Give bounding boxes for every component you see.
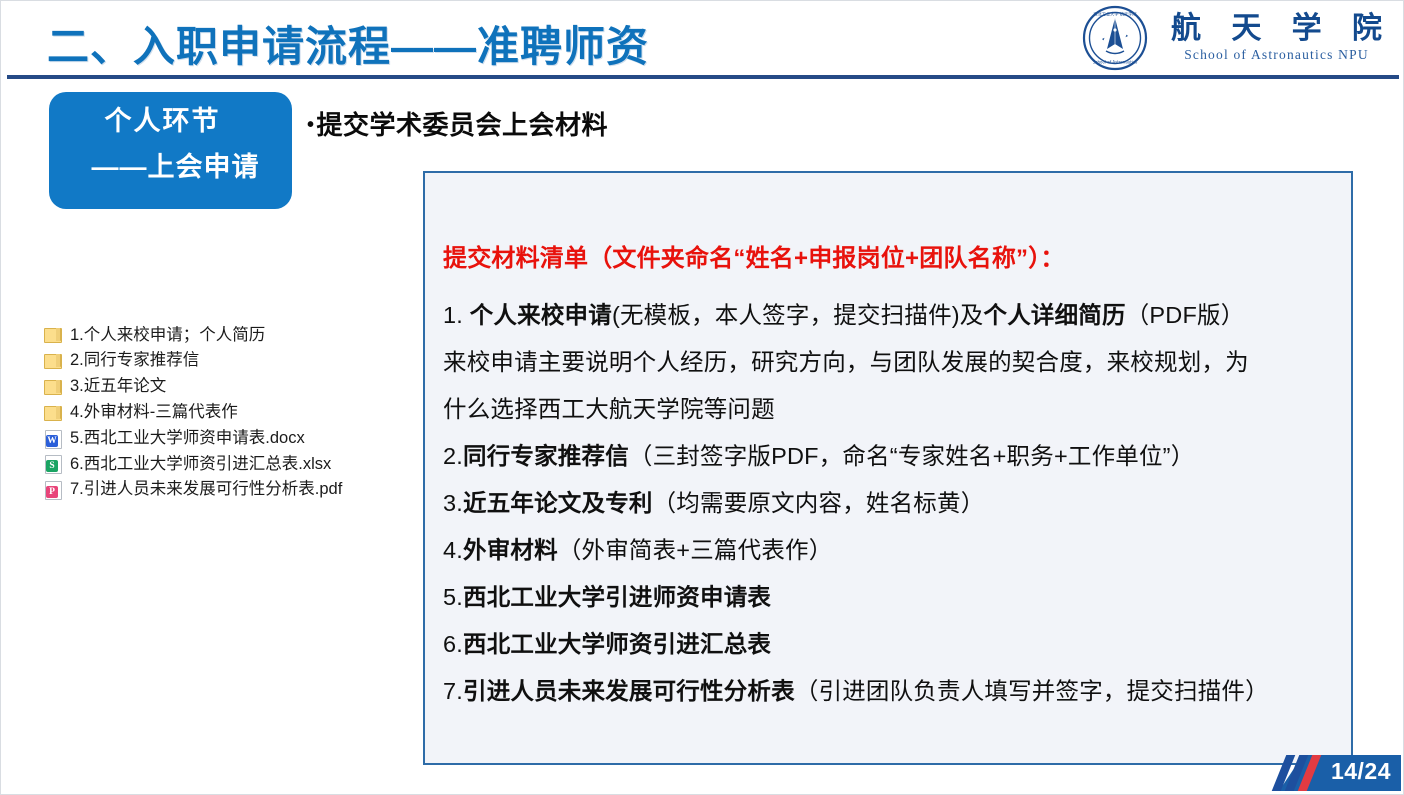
checklist-line: 6.西北工业大学师资引进汇总表 [443,621,1337,668]
checklist-lines: 1. 个人来校申请(无模板，本人签字，提交扫描件)及个人详细简历（PDF版）来校… [443,292,1337,715]
logo-chinese-name: 航 天 学 院 [1160,13,1393,45]
checklist-emphasis: 个人来校申请 [470,302,612,328]
stage-badge: 个人环节 ——上会申请 [49,92,292,209]
checklist-text: 5. [443,584,463,610]
folder-icon [43,403,62,422]
attachment-file-list: 1.个人来校申请；个人简历2.同行专家推荐信3.近五年论文4.外审材料-三篇代表… [43,322,395,503]
list-item[interactable]: 2.同行专家推荐信 [43,348,395,374]
svg-text:西北工业大学 航天学院: 西北工业大学 航天学院 [1093,10,1137,17]
checklist-emphasis: 西北工业大学师资引进汇总表 [463,631,771,657]
checklist-text: （PDF版） [1126,302,1245,328]
section-bullet-text: 提交学术委员会上会材料 [317,110,609,140]
logo-english-name: School of Astronautics NPU [1184,47,1369,63]
section-bullet-heading: •提交学术委员会上会材料 [307,105,608,142]
page-number: 14/24 [1331,758,1391,785]
checklist-emphasis: 近五年论文及专利 [463,490,653,516]
list-item-label: 3.近五年论文 [70,378,166,395]
checklist-emphasis: 引进人员未来发展可行性分析表 [463,678,795,704]
checklist-heading: 提交材料清单（文件夹命名“姓名+申报岗位+团队名称”）： [443,235,1337,282]
checklist-line: 4.外审材料（外审简表+三篇代表作） [443,527,1337,574]
checklist-emphasis: 同行专家推荐信 [463,443,629,469]
checklist-line: 1. 个人来校申请(无模板，本人签字，提交扫描件)及个人详细简历（PDF版） [443,292,1337,339]
checklist-line: 来校申请主要说明个人经历，研究方向，与团队发展的契合度，来校规划，为 [443,339,1337,386]
page-title: 二、入职申请流程——准聘师资 [47,13,649,74]
folder-icon [43,351,62,370]
checklist-text: 2. [443,443,463,469]
list-item[interactable]: S6.西北工业大学师资引进汇总表.xlsx [43,451,395,477]
school-logo: 西北工业大学 航天学院 School of Astronautics 航 天 学… [1082,5,1393,71]
list-item[interactable]: 1.个人来校申请；个人简历 [43,322,395,348]
checklist-text: 4. [443,537,463,563]
header-divider [7,75,1399,79]
list-item-label: 7.引进人员未来发展可行性分析表.pdf [70,481,342,498]
checklist-line: 7.引进人员未来发展可行性分析表（引进团队负责人填写并签字，提交扫描件） [443,668,1337,715]
materials-checklist-panel: 提交材料清单（文件夹命名“姓名+申报岗位+团队名称”）： 1. 个人来校申请(无… [423,171,1353,765]
checklist-text: （引进团队负责人填写并签字，提交扫描件） [795,678,1269,704]
checklist-emphasis: 西北工业大学引进师资申请表 [463,584,771,610]
slide-header: 二、入职申请流程——准聘师资 西北工业大学 航天学院 School of Ast… [1,1,1404,81]
checklist-text: （三封签字版PDF，命名“专家姓名+职务+工作单位”） [629,443,1195,469]
checklist-text: 7. [443,678,463,704]
list-item-label: 5.西北工业大学师资申请表.docx [70,430,305,447]
page-indicator: 14/24 [1263,755,1401,791]
folder-icon [43,325,62,344]
npu-astronautics-emblem-icon: 西北工业大学 航天学院 School of Astronautics [1082,5,1148,71]
checklist-line: 什么选择西工大航天学院等问题 [443,386,1337,433]
excel-file-icon: S [43,454,62,473]
list-item[interactable]: W5.西北工业大学师资申请表.docx [43,425,395,451]
list-item[interactable]: 3.近五年论文 [43,374,395,400]
list-item-label: 2.同行专家推荐信 [70,352,199,369]
checklist-text: 来校申请主要说明个人经历，研究方向，与团队发展的契合度，来校规划，为 [443,349,1249,375]
checklist-emphasis: 外审材料 [463,537,558,563]
stage-badge-line2: ——上会申请 [49,150,276,185]
pdf-file-icon: P [43,480,62,499]
checklist-text: 1. [443,302,470,328]
stage-badge-line1: 个人环节 [49,105,276,139]
slide-canvas: 二、入职申请流程——准聘师资 西北工业大学 航天学院 School of Ast… [0,0,1404,795]
list-item-label: 6.西北工业大学师资引进汇总表.xlsx [70,456,331,473]
checklist-line: 5.西北工业大学引进师资申请表 [443,574,1337,621]
list-item[interactable]: 4.外审材料-三篇代表作 [43,399,395,425]
materials-checklist-body: 提交材料清单（文件夹命名“姓名+申报岗位+团队名称”）： 1. 个人来校申请(无… [425,173,1351,715]
checklist-text: (无模板，本人签字，提交扫描件)及 [612,302,984,328]
folder-icon [43,377,62,396]
checklist-line: 3.近五年论文及专利（均需要原文内容，姓名标黄） [443,480,1337,527]
checklist-text: （均需要原文内容，姓名标黄） [653,490,985,516]
list-item-label: 4.外审材料-三篇代表作 [70,404,238,421]
logo-text: 航 天 学 院 School of Astronautics NPU [1160,13,1393,63]
svg-text:School of Astronautics: School of Astronautics [1093,60,1138,65]
word-file-icon: W [43,429,62,448]
checklist-text: 6. [443,631,463,657]
bullet-dot-icon: • [307,114,315,136]
checklist-emphasis: 个人详细简历 [984,302,1126,328]
checklist-text: （外审简表+三篇代表作） [558,537,833,563]
checklist-line: 2.同行专家推荐信（三封签字版PDF，命名“专家姓名+职务+工作单位”） [443,433,1337,480]
checklist-text: 3. [443,490,463,516]
checklist-text: 什么选择西工大航天学院等问题 [443,396,775,422]
list-item-label: 1.个人来校申请；个人简历 [70,327,265,344]
list-item[interactable]: P7.引进人员未来发展可行性分析表.pdf [43,477,395,503]
